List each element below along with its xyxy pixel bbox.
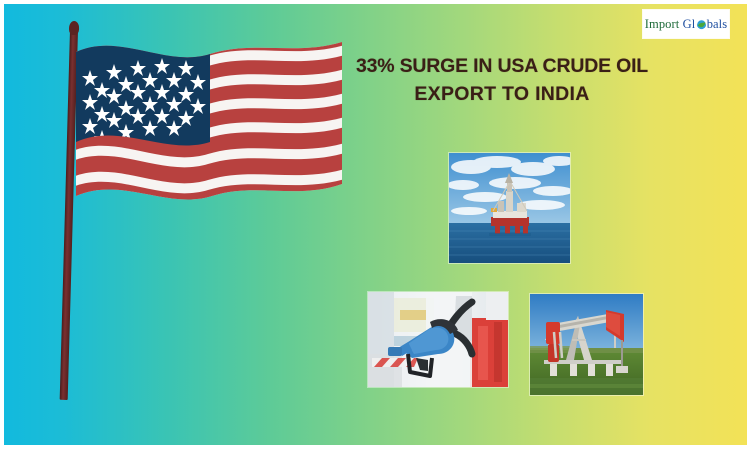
logo-word-bals: bals	[707, 17, 728, 31]
usa-waving-flag	[40, 20, 350, 405]
page-title: 33% SURGE IN USA CRUDE OIL EXPORT TO IND…	[337, 52, 667, 109]
flag-cloth-icon	[70, 34, 348, 244]
logo-word-gl: Gl	[683, 17, 696, 31]
fuel-nozzle-photo	[368, 292, 508, 387]
logo-word-import: Import	[645, 17, 680, 31]
headline-line-2: EXPORT TO INDIA	[337, 80, 667, 108]
import-globals-logo[interactable]: Import Glbals	[643, 10, 729, 38]
headline-line-1: 33% SURGE IN USA CRUDE OIL	[337, 52, 667, 80]
pumpjack-photo	[530, 294, 643, 395]
globe-leaf-icon	[696, 19, 707, 30]
banner-graphic: 33% SURGE IN USA CRUDE OIL EXPORT TO IND…	[4, 4, 747, 445]
offshore-oil-rig-photo	[449, 153, 570, 263]
logo-text: Import Glbals	[645, 17, 727, 32]
